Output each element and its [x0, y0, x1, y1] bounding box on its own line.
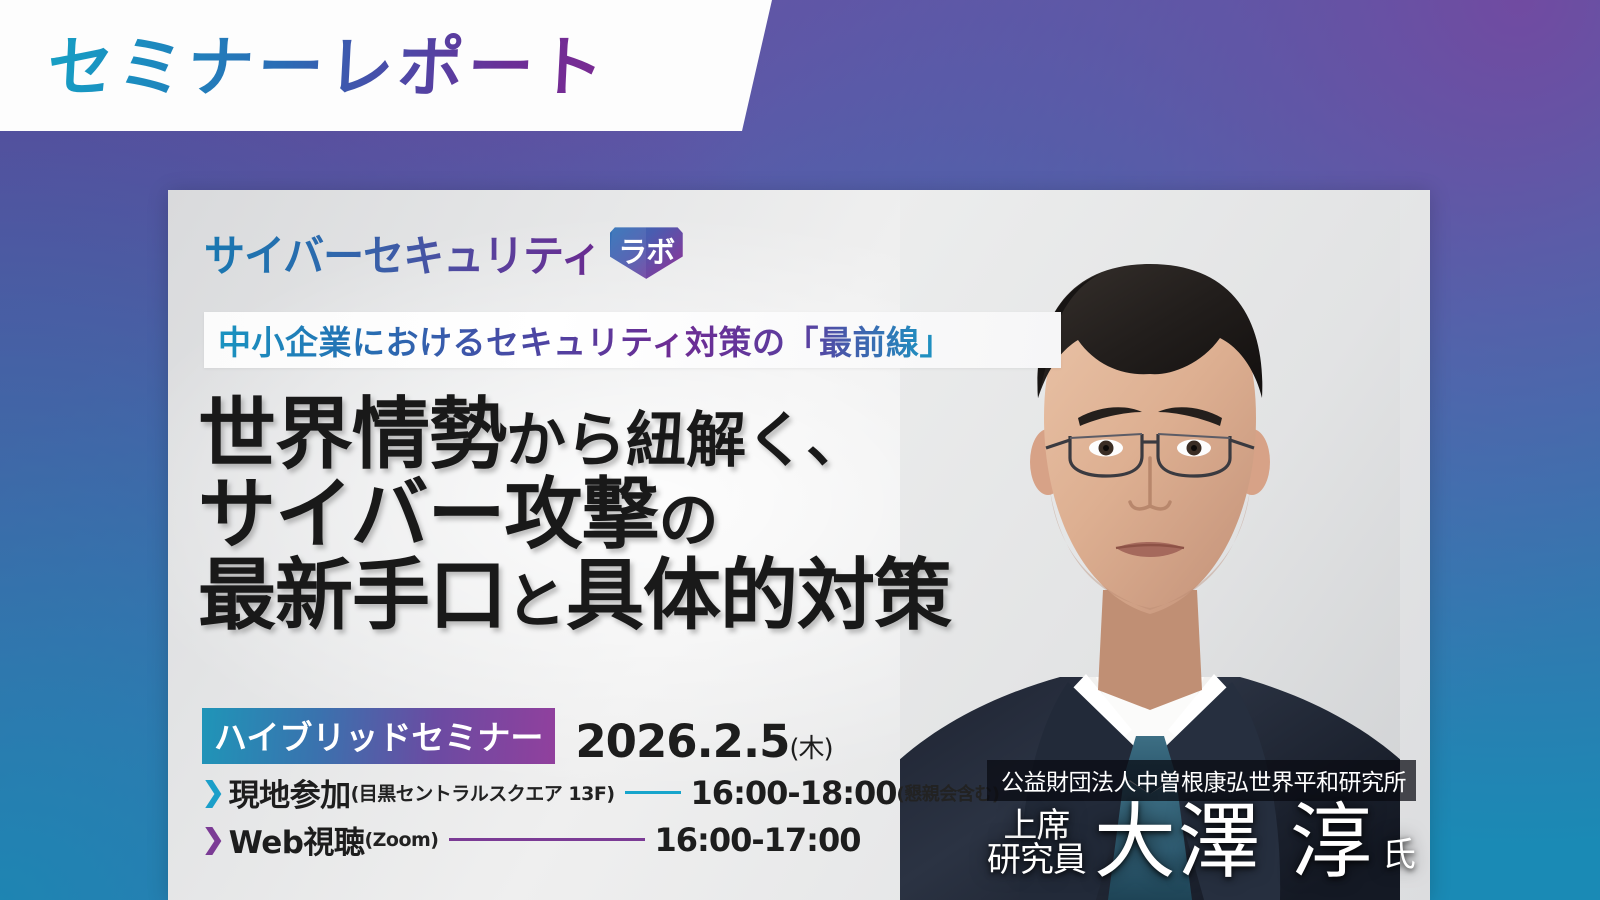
subtitle-strip: 中小企業におけるセキュリティ対策の「最前線」: [204, 312, 1061, 368]
title-seg: 最新手口: [198, 550, 506, 641]
format-badge: ハイブリッドセミナー: [202, 708, 555, 764]
speaker-name: 大澤 淳: [1094, 804, 1374, 882]
title-seg: の: [658, 486, 718, 556]
seminar-report-banner: セミナーレポート: [0, 0, 772, 131]
speaker-name-row: 上席 研究員 大澤 淳 氏: [987, 804, 1416, 882]
divider-rule: [449, 838, 645, 841]
title-seg: から紐解く、: [506, 406, 866, 476]
attendance-note: (Zoom): [364, 829, 438, 851]
event-headline-row: ハイブリッドセミナー 2026.2.5(木): [202, 708, 999, 764]
seminar-card: サイバーセキュリティ ラボ 中小企業におけるセキュリティ対策の「最前線」 世界情…: [168, 190, 1430, 900]
subtitle-text: 中小企業におけるセキュリティ対策の「最前線」: [218, 316, 953, 364]
logo-badge-label: ラボ: [618, 229, 674, 271]
shield-icon: ラボ: [610, 224, 683, 280]
attendance-mode: 現地参加: [229, 770, 351, 815]
attendance-time-note: (懇親会含む): [897, 780, 1000, 806]
title-line-1: 世界情勢から紐解く、: [198, 395, 951, 475]
speaker-role-line-1: 上席: [987, 809, 1086, 844]
cybersecurity-lab-logo: サイバーセキュリティ ラボ: [204, 222, 683, 282]
speaker-block: 公益財団法人中曽根康弘世界平和研究所 上席 研究員 大澤 淳 氏: [987, 760, 1416, 882]
attendance-row-onsite: ❯ 現地参加 (目黒セントラルスクエア 13F) 16:00-18:00 (懇親…: [202, 770, 999, 815]
title-seg: サイバー攻撃: [198, 469, 658, 560]
banner-label: セミナーレポート: [45, 14, 610, 110]
speaker-role: 上席 研究員: [987, 809, 1086, 882]
attendance-mode: Web視聴: [229, 817, 365, 862]
chevron-right-icon: ❯: [202, 779, 225, 806]
event-day-of-week: (木): [789, 734, 832, 764]
title-line-2: サイバー攻撃の: [198, 475, 951, 555]
event-date-value: 2026.2.5: [575, 715, 789, 768]
attendance-note: (目黒セントラルスクエア 13F): [351, 779, 615, 806]
attendance-row-web: ❯ Web視聴 (Zoom) 16:00-17:00: [202, 817, 999, 862]
speaker-role-line-2: 研究員: [987, 843, 1086, 878]
chevron-right-icon: ❯: [202, 826, 225, 853]
divider-rule: [625, 791, 681, 794]
speaker-honorific: 氏: [1382, 827, 1416, 882]
page-title: 世界情勢から紐解く、 サイバー攻撃の 最新手口と具体的対策: [198, 395, 951, 636]
attendance-time: 16:00-17:00: [655, 821, 861, 859]
title-seg: 世界情勢: [198, 389, 506, 480]
title-seg: と: [506, 567, 566, 637]
attendance-time: 16:00-18:00: [691, 774, 897, 812]
title-line-3: 最新手口と具体的対策: [198, 556, 951, 636]
event-info: ハイブリッドセミナー 2026.2.5(木) ❯ 現地参加 (目黒セントラルスク…: [202, 708, 999, 862]
event-date: 2026.2.5(木): [575, 719, 832, 764]
title-seg: 具体的対策: [566, 550, 951, 641]
logo-wordmark: サイバーセキュリティ: [204, 221, 601, 284]
